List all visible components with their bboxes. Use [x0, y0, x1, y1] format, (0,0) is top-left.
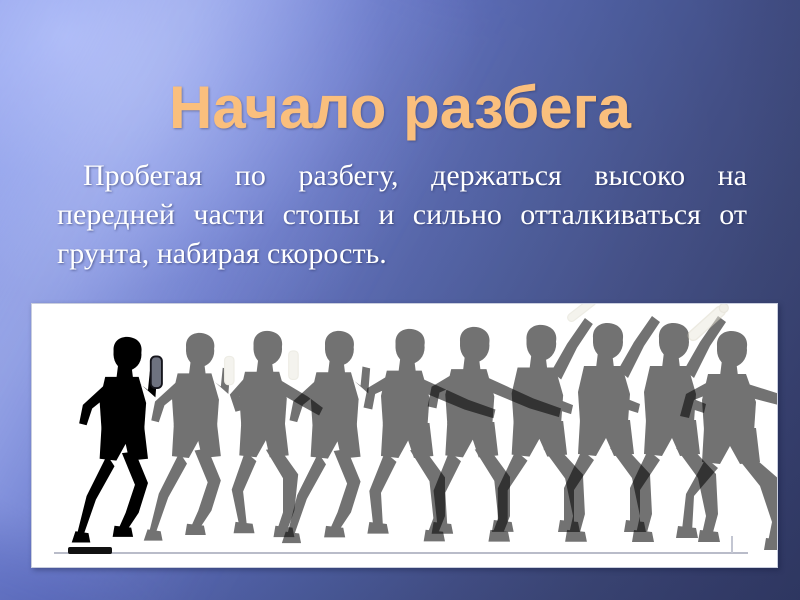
slide-root: Начало разбега Пробегая по разбегу, держ…: [0, 0, 800, 600]
start-block: [68, 547, 112, 554]
ghost-figure: [230, 331, 323, 537]
slide-title: Начало разбега: [0, 78, 800, 138]
slide-body-text: Пробегая по разбегу, держаться высоко на…: [57, 156, 747, 273]
javelin-sequence-illustration: /* ghost (faded) figure palette */ .ghos…: [32, 304, 777, 567]
javelin-held: [151, 356, 162, 388]
lead-runner-figure: [72, 337, 162, 543]
illustration-panel: /* ghost (faded) figure palette */ .ghos…: [31, 303, 778, 568]
